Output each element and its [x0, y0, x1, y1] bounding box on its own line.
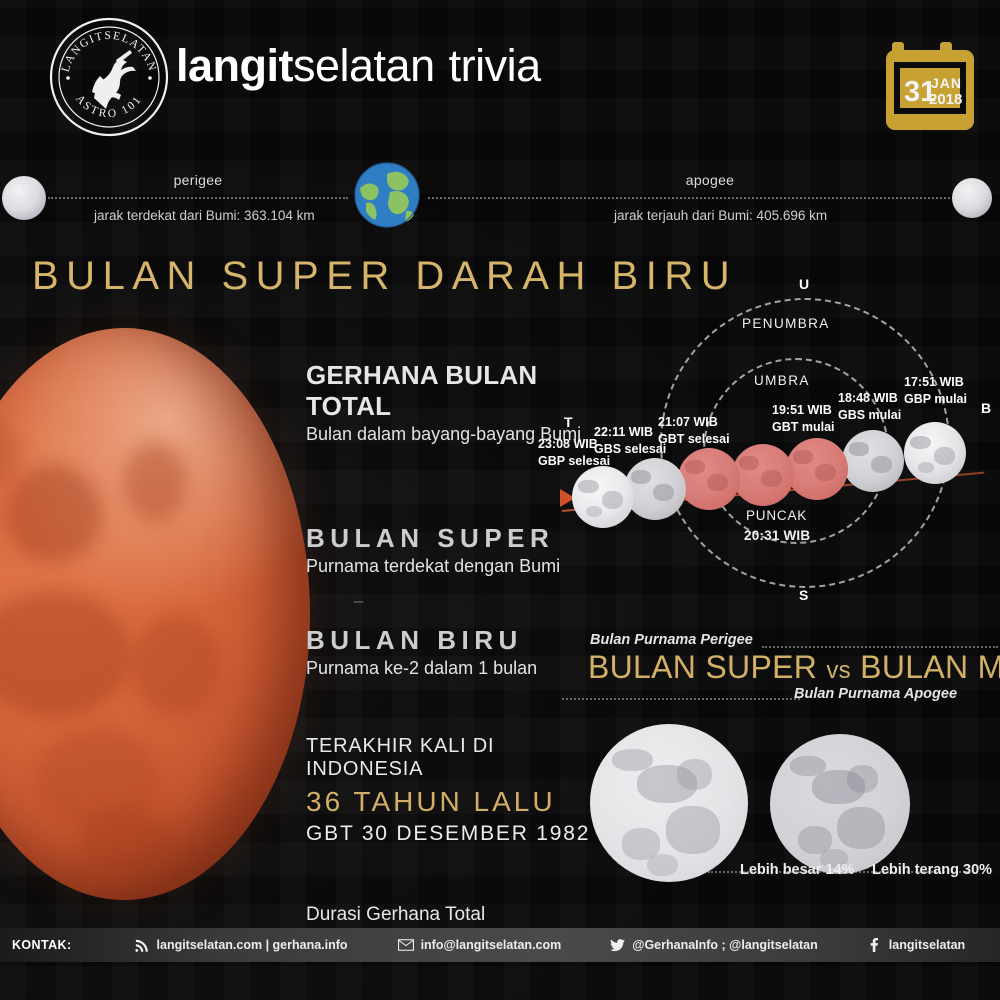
compare-title-right: BULAN MINI	[860, 649, 1000, 685]
compare-note-size: Lebih besar 14%	[740, 862, 854, 878]
footer-item-text: @GerhanaInfo ; @langitselatan	[632, 938, 818, 952]
compare-top-rule	[762, 646, 998, 648]
fact-subtitle: Purnama ke-2 dalam 1 bulan	[306, 658, 606, 679]
compare-title: BULAN SUPER vs BULAN MINI	[588, 649, 1000, 686]
last-occurrence-block: TERAKHIR KALI DI INDONESIA 36 TAHUN LALU…	[306, 735, 606, 846]
footer-kontak-label: KONTAK:	[12, 938, 72, 952]
section-divider-dash: –	[354, 591, 606, 611]
last-occurrence-caption: TERAKHIR KALI DI INDONESIA	[306, 735, 606, 781]
perigee-line	[48, 197, 348, 199]
axis-label-north: U	[799, 276, 809, 292]
eclipse-moon-gbs-selesai	[624, 458, 686, 520]
fact-title: GERHANA BULAN TOTAL	[306, 360, 606, 422]
peak-time: 20:31 WIB	[744, 528, 810, 543]
eclipse-moon-puncak	[732, 444, 794, 506]
header: LANGITSELATAN ASTRO 101 langitselatantri…	[0, 0, 1000, 148]
calendar-badge: 31 JAN 2018	[884, 30, 976, 134]
compare-top-caption: Bulan Purnama Perigee	[590, 632, 753, 648]
phase-time: 21:07 WIB	[658, 414, 730, 431]
footer-item-facebook[interactable]: langitselatan	[866, 938, 965, 953]
perigee-moon-icon	[2, 176, 46, 220]
twitter-icon	[609, 938, 626, 953]
fact-subtitle: Bulan dalam bayang-bayang Bumi	[306, 424, 606, 445]
apogee-detail: jarak terjauh dari Bumi: 405.696 km	[614, 208, 827, 223]
phase-label-gbs-mulai: 18:48 WIB GBS mulai	[838, 390, 901, 423]
eclipse-path-diagram: U S T B PENUMBRA UMBRA 17:51 WIB	[546, 276, 1000, 608]
brand-logo-icon: LANGITSELATAN ASTRO 101	[48, 16, 170, 138]
brand-title: langitselatantrivia	[176, 40, 541, 92]
phase-time: 17:51 WIB	[904, 374, 967, 391]
footer-item-email[interactable]: info@langitselatan.com	[398, 938, 562, 953]
phase-time: 19:51 WIB	[772, 402, 835, 419]
compare-title-left: BULAN SUPER	[588, 649, 817, 685]
perigee-label: perigee	[128, 172, 268, 188]
rss-icon	[134, 938, 151, 953]
fact-gerhana-bulan-total: GERHANA BULAN TOTAL Bulan dalam bayang-b…	[306, 360, 606, 445]
penumbra-label: PENUMBRA	[742, 316, 830, 331]
last-occurrence-detail: GBT 30 DESEMBER 1982	[306, 822, 606, 846]
eclipse-moon-gbt-selesai	[678, 448, 740, 510]
footer-item-text: langitselatan.com | gerhana.info	[157, 938, 348, 952]
perigee-detail: jarak terdekat dari Bumi: 363.104 km	[94, 208, 315, 223]
phase-time: 18:48 WIB	[838, 390, 901, 407]
footer-item-website[interactable]: langitselatan.com | gerhana.info	[134, 938, 348, 953]
fact-bulan-biru: BULAN BIRU Purnama ke-2 dalam 1 bulan	[306, 625, 606, 679]
brand-title-light: selatan	[293, 40, 435, 91]
phase-label-gbp-mulai: 17:51 WIB GBP mulai	[904, 374, 967, 407]
calendar-month: JAN	[931, 75, 962, 91]
axis-label-east: B	[981, 400, 991, 416]
footer-contact-bar: KONTAK: langitselatan.com | gerhana.info…	[0, 928, 1000, 962]
phase-event: GBP mulai	[904, 391, 967, 408]
fact-bulan-super: BULAN SUPER Purnama terdekat dengan Bumi	[306, 523, 606, 577]
eclipse-moon-gbs-mulai	[842, 430, 904, 492]
compare-bottom-caption: Bulan Purnama Apogee	[794, 686, 957, 702]
super-vs-mini-section: Bulan Purnama Perigee BULAN SUPER vs BUL…	[562, 632, 1000, 894]
phase-event: GBT mulai	[772, 419, 835, 436]
facebook-icon	[866, 938, 883, 953]
phase-label-gbt-mulai: 19:51 WIB GBT mulai	[772, 402, 835, 435]
apogee-label: apogee	[640, 172, 780, 188]
compare-note-brightness: Lebih terang 30%	[872, 862, 992, 878]
facts-column: GERHANA BULAN TOTAL Bulan dalam bayang-b…	[306, 360, 606, 964]
super-moon-image	[590, 724, 748, 882]
fact-subtitle: Purnama terdekat dengan Bumi	[306, 556, 606, 577]
fact-title: BULAN SUPER	[306, 523, 606, 554]
svg-text:LANGITSELATAN: LANGITSELATAN	[60, 30, 158, 74]
footer-item-text: langitselatan	[889, 938, 965, 952]
axis-label-south: S	[799, 587, 808, 603]
calendar-year: 2018	[929, 91, 962, 108]
phase-event: GBS mulai	[838, 407, 901, 424]
footer-item-twitter[interactable]: @GerhanaInfo ; @langitselatan	[609, 938, 818, 953]
brand-title-bold: langit	[176, 40, 293, 91]
last-occurrence-highlight: 36 TAHUN LALU	[306, 786, 606, 818]
duration-label: Durasi Gerhana Total	[306, 904, 606, 926]
eclipse-moon-gbp-mulai	[904, 422, 966, 484]
compare-title-vs: vs	[826, 657, 851, 684]
phase-event: GBT selesai	[658, 431, 730, 448]
umbra-label: UMBRA	[754, 373, 810, 388]
email-icon	[398, 938, 415, 953]
footer-item-text: info@langitselatan.com	[421, 938, 562, 952]
apogee-moon-icon	[952, 178, 992, 218]
mini-moon-image	[770, 734, 910, 874]
orbit-distance-band: perigee jarak terdekat dari Bumi: 363.10…	[0, 152, 1000, 244]
peak-label: PUNCAK	[746, 508, 807, 523]
fact-title: BULAN BIRU	[306, 625, 606, 656]
phase-label-gbt-selesai: 21:07 WIB GBT selesai	[658, 414, 730, 447]
apogee-line	[428, 197, 950, 199]
eclipse-moon-gbt-mulai	[786, 438, 848, 500]
brand-title-trivia: trivia	[449, 40, 541, 91]
